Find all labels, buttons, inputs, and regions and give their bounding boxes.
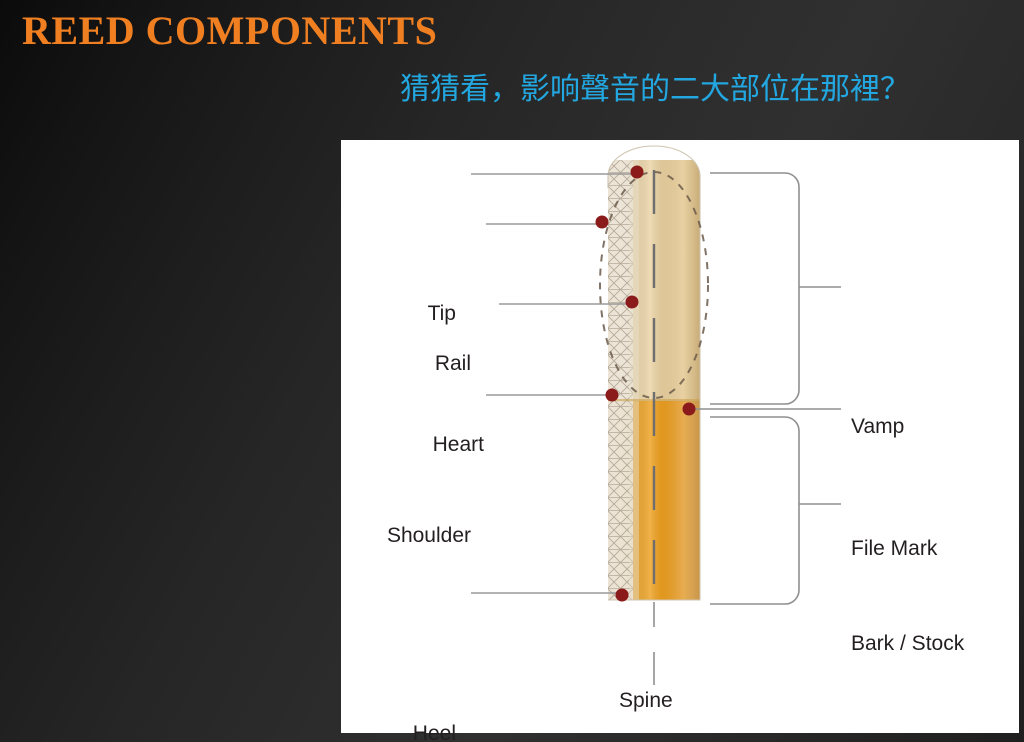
marker-dot-shoulder: [606, 389, 619, 402]
label-vamp: Vamp: [851, 416, 904, 437]
label-tip: Tip: [341, 303, 456, 324]
label-file-mark: File Mark: [851, 538, 937, 559]
marker-dot-heart: [626, 296, 639, 309]
reed-mesh-fade: [629, 160, 639, 602]
bracket-vamp: [710, 173, 799, 404]
label-rail: Rail: [341, 353, 471, 374]
bracket-bark-stock: [710, 417, 799, 604]
reed-mesh-texture: [605, 160, 633, 602]
label-shoulder: Shoulder: [341, 525, 471, 546]
label-spine: Spine: [619, 690, 673, 711]
label-bark-stock: Bark / Stock: [851, 633, 964, 654]
subtitle-question: 猜猜看，影响聲音的二大部位在那裡？: [400, 64, 910, 108]
page-title: REED COMPONENTS: [22, 7, 437, 54]
slide-canvas: REED COMPONENTS 猜猜看，影响聲音的二大部位在那裡？: [0, 0, 1024, 742]
label-heel: Heel: [341, 723, 456, 742]
marker-dot-tip: [631, 166, 644, 179]
label-heart: Heart: [341, 434, 484, 455]
marker-dot-file-mark: [683, 403, 696, 416]
marker-dot-rail: [596, 216, 609, 229]
reed-illustration: [605, 160, 703, 602]
diagram-panel: Tip Rail Heart Shoulder Heel Vamp File M…: [341, 140, 1019, 733]
marker-dot-heel: [616, 589, 629, 602]
